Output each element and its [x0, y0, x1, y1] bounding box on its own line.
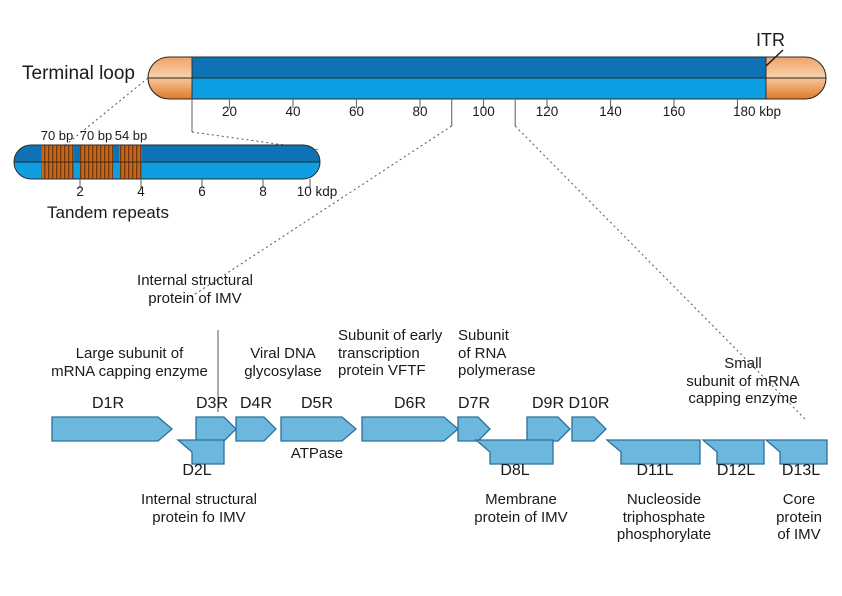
gene-label-D1R: D1R — [72, 395, 144, 414]
gene-arrow-D5R — [281, 417, 356, 441]
annotation-d2l: Internal structural protein fo IMV — [106, 491, 292, 526]
gene-arrow-D10R — [572, 417, 606, 441]
gene-label-D4R: D4R — [228, 395, 284, 414]
gene-arrow-D12L — [703, 440, 764, 464]
annotation-d13l-top: Small subunit of mRNA capping enzyme — [663, 355, 823, 408]
tandem-repeat-bar — [14, 145, 320, 179]
genome-tick-140: 140 — [591, 104, 631, 120]
gene-arrow-D2L — [178, 440, 224, 464]
tandem-tick-6: 6 — [184, 184, 220, 200]
annotation-d4r: Viral DNA glycosylase — [228, 345, 338, 380]
genome-tick-100: 100 — [464, 104, 504, 120]
gene-arrow-D3R — [196, 417, 236, 441]
gene-label-D13L: D13L — [768, 462, 834, 481]
genome-tick-80: 80 — [400, 104, 440, 120]
tandem-tick-8: 8 — [245, 184, 281, 200]
annotation-d3r: Internal structural protein of IMV — [100, 272, 290, 307]
gene-arrows-reverse — [178, 440, 827, 464]
annotation-d8l: Membrane protein of IMV — [448, 491, 594, 526]
gene-label-D7R: D7R — [446, 395, 502, 414]
figure-canvas: Terminal loop ITR 20 40 60 80 100 120 14… — [0, 0, 842, 596]
gene-arrow-D4R — [236, 417, 276, 441]
gene-sublabel-D5R-ATPase: ATPase — [277, 445, 357, 463]
genome-tick-20: 20 — [210, 104, 250, 120]
gene-label-D11L: D11L — [622, 462, 688, 481]
gene-arrow-D1R — [52, 417, 172, 441]
gene-arrow-D6R — [362, 417, 458, 441]
gene-arrow-D8L — [476, 440, 553, 464]
gene-label-D8L: D8L — [484, 462, 546, 481]
gene-arrow-D13L — [766, 440, 827, 464]
annotation-d5r: Subunit of early transcription protein V… — [338, 327, 458, 380]
genome-tick-40: 40 — [273, 104, 313, 120]
gene-arrow-D9R — [527, 417, 570, 441]
gene-arrow-D7R — [458, 417, 490, 441]
tandem-tick-2: 2 — [62, 184, 98, 200]
genome-tick-120: 120 — [527, 104, 567, 120]
annotation-d6r: Subunit of RNA polymerase — [458, 327, 553, 380]
tandem-tick-10: 10 kdp — [282, 184, 352, 200]
gene-label-D6R: D6R — [379, 395, 441, 414]
gene-label-D12L: D12L — [703, 462, 769, 481]
itr-label: ITR — [756, 30, 785, 51]
annotation-d13l-bottom: Core protein of IMV — [762, 491, 836, 544]
gene-label-D2L: D2L — [166, 462, 228, 481]
annotation-d1r: Large subunit of mRNA capping enzyme — [42, 345, 217, 380]
genome-tick-180: 180 kbp — [722, 104, 792, 120]
gene-label-D10R: D10R — [558, 395, 620, 414]
tandem-tick-4: 4 — [123, 184, 159, 200]
terminal-loop-label: Terminal loop — [22, 63, 135, 85]
tandem-bp-label-3: 54 bp — [107, 128, 155, 143]
gene-arrow-D11L — [607, 440, 700, 464]
genome-tick-160: 160 — [654, 104, 694, 120]
genome-tick-60: 60 — [337, 104, 377, 120]
genome-bar — [148, 57, 826, 99]
tandem-repeats-caption: Tandem repeats — [18, 203, 198, 223]
gene-arrows-forward — [52, 417, 606, 441]
annotation-d11l: Nucleoside triphosphate phosphorylate — [596, 491, 732, 544]
gene-label-D5R: D5R — [286, 395, 348, 414]
